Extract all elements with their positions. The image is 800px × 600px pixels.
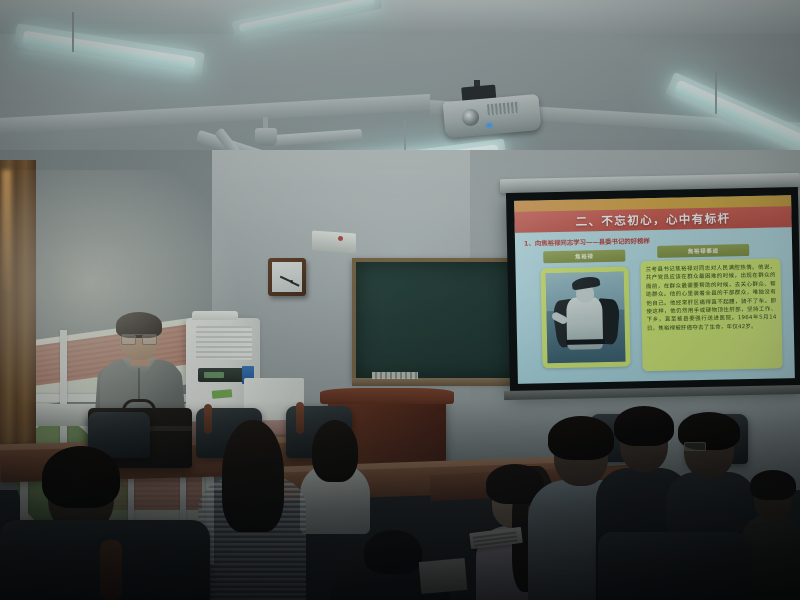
audience-woman-striped	[198, 422, 308, 600]
ac-brand-sticker	[212, 389, 233, 399]
person-hair	[614, 406, 674, 446]
slide-title: 二、不忘初心，心中有标杆	[575, 210, 730, 229]
lecturer-glasses	[121, 334, 157, 342]
person-hair	[750, 470, 796, 500]
lecturer-shirt-placket	[138, 368, 140, 402]
light-suspension-rod	[715, 72, 717, 114]
clock-face	[272, 262, 302, 292]
slide-title-band: 二、不忘初心，心中有标杆	[514, 206, 791, 233]
person-hair	[364, 530, 422, 574]
light-suspension-rod	[72, 12, 74, 52]
lectern-top	[320, 388, 454, 404]
person-hair	[312, 420, 358, 482]
projector-lens-icon	[461, 108, 479, 126]
ceiling-beam-left	[0, 94, 430, 134]
chalk-pieces	[372, 372, 418, 379]
ac-top-cap	[192, 311, 238, 320]
ceiling-fan-hub	[255, 128, 277, 146]
person-hair	[42, 446, 120, 508]
person-glasses	[684, 442, 706, 451]
slide-body-text: 兰考县书记焦裕禄对同志对人民满腔热情。他说，共产党员应该在群众最困难的时候，出现…	[645, 263, 776, 333]
wall-clock	[268, 258, 306, 296]
ceiling-beam-front	[0, 0, 800, 34]
presentation-slide: 二、不忘初心，心中有标杆 1、向焦裕禄同志学习——县委书记的好榜样 焦裕禄 焦裕…	[514, 195, 795, 384]
briefcase-handle	[122, 399, 156, 411]
seat-armrest	[100, 540, 122, 600]
projector-status-led	[487, 123, 492, 127]
slide-tab-person-name: 焦裕禄	[543, 250, 625, 264]
slide-photo-card	[541, 267, 631, 369]
ac-display	[204, 372, 224, 378]
classroom-photo: 二、不忘初心，心中有标杆 1、向焦裕禄同志学习——县委书记的好榜样 焦裕禄 焦裕…	[0, 0, 800, 600]
projector-vent	[487, 102, 520, 116]
paper-sheet[interactable]	[419, 558, 468, 594]
chalk-tray	[352, 378, 534, 386]
person-torso	[742, 516, 800, 600]
slide-subtitle: 1、向焦裕禄同志学习——县委书记的好榜样	[524, 236, 650, 248]
slide-tab-deeds: 焦裕禄事迹	[657, 244, 749, 258]
slide-historic-photo	[546, 272, 626, 364]
projection-screen: 二、不忘初心，心中有标杆 1、向焦裕禄同志学习——县委书记的好榜样 焦裕禄 焦裕…	[506, 187, 800, 393]
ac-vent-grille	[196, 326, 252, 360]
person-hair	[222, 420, 284, 532]
photo-belt	[566, 339, 605, 345]
clock-center-pin	[290, 280, 293, 283]
speaker-indicator-light	[338, 236, 343, 241]
slide-text-card: 兰考县书记焦裕禄对同志对人民满腔热情。他说，共产党员应该在群众最困难的时候，出现…	[640, 258, 782, 371]
auditorium-seat[interactable]	[598, 532, 748, 600]
wall-speaker	[312, 230, 356, 253]
curtain-light-glow	[2, 170, 11, 290]
audience-man-back-right	[742, 470, 800, 600]
